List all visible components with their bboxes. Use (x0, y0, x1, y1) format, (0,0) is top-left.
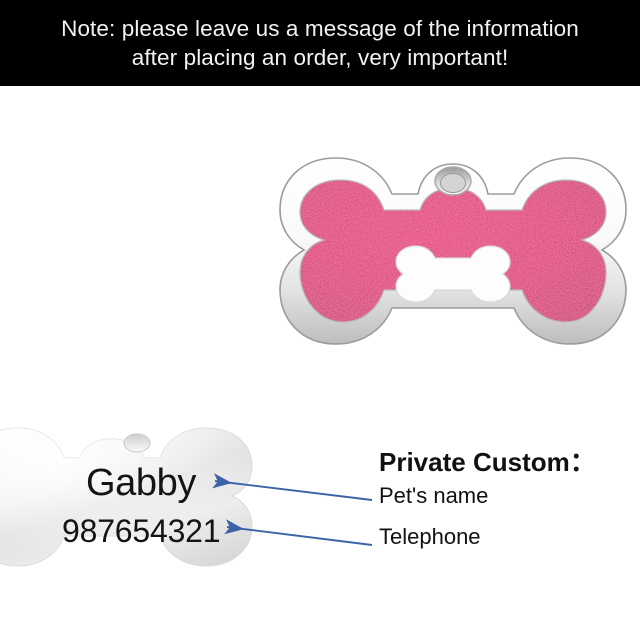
hanging-hole-inner (441, 174, 466, 193)
engraved-telephone: 987654321 (62, 513, 220, 550)
red-glitter-bone-tag (272, 140, 634, 372)
annotation-title: Private Custom： (379, 442, 596, 479)
annotation-label-pet-name: Pet's name (379, 483, 488, 509)
hanging-hole (124, 434, 150, 452)
note-line-1: Note: please leave us a message of the i… (61, 14, 579, 43)
annotation-label-telephone: Telephone (379, 524, 481, 550)
engraved-pet-name: Gabby (86, 462, 196, 505)
note-banner: Note: please leave us a message of the i… (0, 0, 640, 86)
note-line-2: after placing an order, very important! (132, 43, 509, 72)
